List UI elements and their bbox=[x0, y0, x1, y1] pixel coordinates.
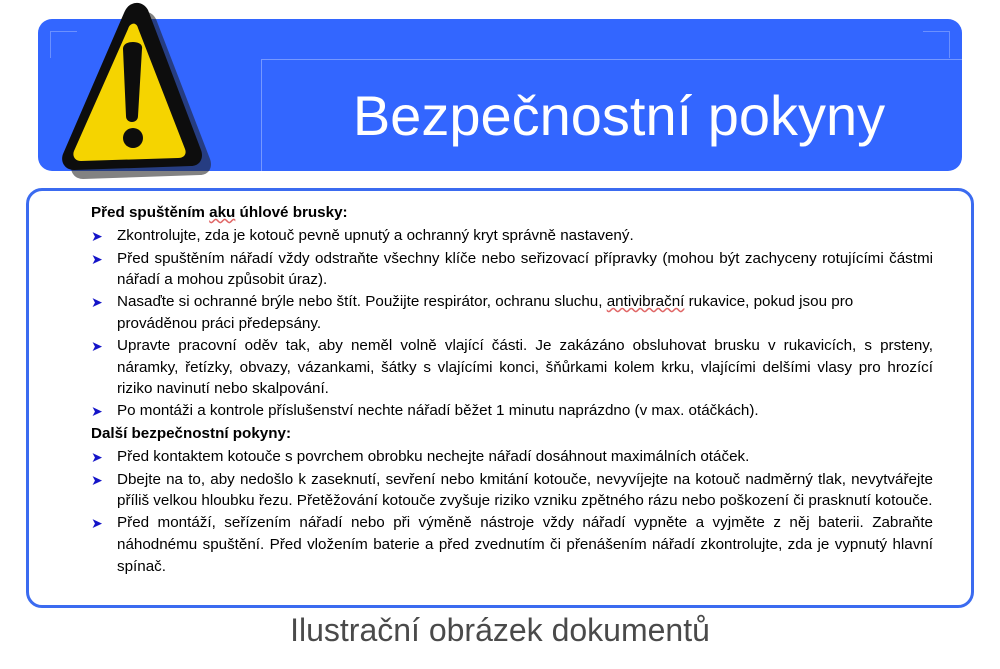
bullet-item-text: Před spuštěním nářadí vždy odstraňte vše… bbox=[117, 248, 933, 292]
header-banner: Bezpečnostní pokyny bbox=[38, 19, 962, 171]
arrow-bullet-icon: ➤ bbox=[91, 446, 117, 469]
bullet-item-text: Zkontrolujte, zda je kotouč pevně upnutý… bbox=[117, 225, 933, 247]
bullet-list-item: ➤Zkontrolujte, zda je kotouč pevně upnut… bbox=[91, 225, 933, 248]
bullet-list-item: ➤Dbejte na to, aby nedošlo k zaseknutí, … bbox=[91, 469, 933, 513]
bullet-item-text: Dbejte na to, aby nedošlo k zaseknutí, s… bbox=[117, 469, 933, 513]
bullet-list-item: ➤Před kontaktem kotouče s povrchem obrob… bbox=[91, 446, 933, 469]
bullet-item-text: Před kontaktem kotouče s povrchem obrobk… bbox=[117, 446, 933, 468]
spellcheck-underlined-word: aku bbox=[209, 204, 235, 221]
arrow-bullet-icon: ➤ bbox=[91, 225, 117, 248]
bullet-item-text: Nasaďte si ochranné brýle nebo štít. Pou… bbox=[117, 291, 933, 335]
bullet-list-item: ➤Po montáži a kontrole příslušenství nec… bbox=[91, 400, 933, 423]
image-caption: Ilustrační obrázek dokumentů bbox=[0, 612, 1000, 649]
spellcheck-underlined-word: antivibrační bbox=[607, 293, 685, 310]
bullet-item-text: Před montáží, seřízením nářadí nebo při … bbox=[117, 512, 933, 577]
corner-bracket-top-left bbox=[50, 31, 77, 58]
arrow-bullet-icon: ➤ bbox=[91, 248, 117, 271]
bullet-list-item: ➤Nasaďte si ochranné brýle nebo štít. Po… bbox=[91, 291, 933, 335]
arrow-bullet-icon: ➤ bbox=[91, 291, 117, 314]
document-body: Před spuštěním aku úhlové brusky:➤Zkontr… bbox=[91, 202, 933, 578]
bullet-list-item: ➤Upravte pracovní oděv tak, aby neměl vo… bbox=[91, 335, 933, 400]
arrow-bullet-icon: ➤ bbox=[91, 469, 117, 492]
corner-bracket-top-right bbox=[923, 31, 950, 58]
arrow-bullet-icon: ➤ bbox=[91, 335, 117, 358]
section-heading: Další bezpečnostní pokyny: bbox=[91, 423, 933, 445]
document-content-panel: Před spuštěním aku úhlové brusky:➤Zkontr… bbox=[26, 188, 974, 608]
section-heading: Před spuštěním aku úhlové brusky: bbox=[91, 202, 933, 224]
bullet-item-text: Upravte pracovní oděv tak, aby neměl vol… bbox=[117, 335, 933, 400]
bullet-item-text: Po montáži a kontrole příslušenství nech… bbox=[117, 400, 933, 422]
arrow-bullet-icon: ➤ bbox=[91, 512, 117, 535]
banner-title-box: Bezpečnostní pokyny bbox=[261, 59, 977, 180]
arrow-bullet-icon: ➤ bbox=[91, 400, 117, 423]
bullet-list-item: ➤Před montáží, seřízením nářadí nebo při… bbox=[91, 512, 933, 577]
bullet-list-item: ➤Před spuštěním nářadí vždy odstraňte vš… bbox=[91, 248, 933, 292]
page-title: Bezpečnostní pokyny bbox=[353, 88, 885, 144]
